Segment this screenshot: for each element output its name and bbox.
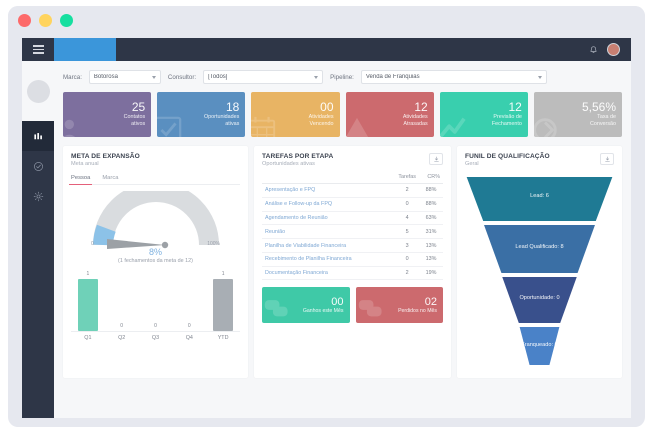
mini-card-value: 02 xyxy=(425,296,437,308)
funnel-stage-label-franqueado: Franqueado: 0 xyxy=(465,342,614,348)
panel-title: TAREFAS POR ETAPA xyxy=(262,153,443,160)
kpi-label-line2: Fechamento xyxy=(492,121,522,128)
kpi-value: 00 xyxy=(320,101,333,114)
mini-card-row: 00 Ganhos este Mês 02 Perdidos no Mês xyxy=(262,287,443,323)
funnel-stage-label-oportunidade: Oportunidade: 0 xyxy=(465,295,614,301)
bar xyxy=(78,279,98,331)
bar-value: 1 xyxy=(87,271,90,277)
kpi-label-line1: Oportunidades xyxy=(204,114,239,121)
sidebar-item-tasks[interactable] xyxy=(22,151,54,181)
funnel-stage-label-lead: Lead: 6 xyxy=(465,193,614,199)
mini-card-label: Ganhos este Mês xyxy=(303,308,344,314)
task-count: 0 xyxy=(395,197,419,211)
gauge-tick-min: 0 xyxy=(91,241,94,247)
table-row[interactable]: Reunião 5 31% xyxy=(262,225,443,239)
task-cr: 13% xyxy=(419,239,443,253)
filter-label-consultor: Consultor: xyxy=(168,74,196,81)
column-header-name xyxy=(262,172,395,184)
task-name: Análise e Follow-up da FPQ xyxy=(262,197,395,211)
filter-select-pipeline[interactable]: Venda de Franquias xyxy=(361,70,547,84)
kpi-value: 5,56% xyxy=(582,101,616,114)
task-cr: 31% xyxy=(419,225,443,239)
task-count: 5 xyxy=(395,225,419,239)
sidebar-item-settings[interactable] xyxy=(22,181,54,211)
task-count: 2 xyxy=(395,184,419,198)
bar-group: 1 0 0 xyxy=(71,270,240,332)
check-circle-icon xyxy=(33,161,44,172)
kpi-card-atividades-atrasadas[interactable]: 12 Atividades Atrasadas xyxy=(346,92,434,137)
topbar-actions xyxy=(589,43,631,56)
user-avatar[interactable] xyxy=(607,43,620,56)
bell-icon[interactable] xyxy=(589,45,598,55)
bar-label: Q2 xyxy=(105,335,139,341)
kpi-label-line2: ativos xyxy=(131,121,145,128)
conversion-icon xyxy=(534,115,560,137)
kpi-label-line2: Conversão xyxy=(590,121,616,128)
chat-bubbles-icon xyxy=(264,298,290,323)
table-row[interactable]: Agendamento de Reunião 4 63% xyxy=(262,211,443,225)
chevron-down-icon xyxy=(538,76,542,79)
bar-label: Q1 xyxy=(71,335,105,341)
dashboard-content: Marca: Botorosa Consultor: [Todos] Pipel… xyxy=(54,61,631,418)
task-count: 0 xyxy=(395,252,419,266)
task-name: Planilha de Viabilidade Financeira xyxy=(262,239,395,253)
task-count: 4 xyxy=(395,211,419,225)
chevron-down-icon xyxy=(314,76,318,79)
bar-column: 1 xyxy=(206,270,240,331)
task-cr: 13% xyxy=(419,252,443,266)
bar-label: Q4 xyxy=(172,335,206,341)
filter-value-marca: Botorosa xyxy=(94,74,118,80)
kpi-value: 18 xyxy=(226,101,239,114)
filter-bar: Marca: Botorosa Consultor: [Todos] Pipel… xyxy=(63,70,622,84)
funnel-shapes xyxy=(465,173,614,369)
bar-label: Q3 xyxy=(139,335,173,341)
kpi-card-oportunidades[interactable]: 18 Oportunidades ativas xyxy=(157,92,245,137)
download-button[interactable] xyxy=(600,153,614,165)
table-header-row: Tarefas CR% xyxy=(262,172,443,184)
chart-bars-icon xyxy=(33,131,44,142)
check-square-icon xyxy=(157,115,183,137)
trend-icon xyxy=(440,115,466,137)
download-icon xyxy=(433,156,440,163)
kpi-label-line1: Taxa de xyxy=(597,114,616,121)
mini-card-value: 00 xyxy=(331,296,343,308)
panel-tarefas-por-etapa: TAREFAS POR ETAPA Oportunidades ativas xyxy=(254,146,451,378)
avatar xyxy=(27,80,50,103)
task-cr: 63% xyxy=(419,211,443,225)
topbar xyxy=(54,38,631,61)
bar-column: 0 xyxy=(172,270,206,331)
mini-card-ganhos[interactable]: 00 Ganhos este Mês xyxy=(262,287,350,323)
kpi-card-taxa-conversao[interactable]: 5,56% Taxa de Conversão xyxy=(534,92,622,137)
kpi-label-line2: Atrasadas xyxy=(403,121,427,128)
table-row[interactable]: Recebimento de Planilha Financeira 0 13% xyxy=(262,252,443,266)
panel-header: TAREFAS POR ETAPA Oportunidades ativas xyxy=(262,153,443,167)
sidebar-nav xyxy=(22,121,54,211)
filter-select-marca[interactable]: Botorosa xyxy=(89,70,161,84)
window-titlebar xyxy=(8,6,645,34)
task-count: 2 xyxy=(395,266,419,280)
task-cr: 19% xyxy=(419,266,443,280)
bar xyxy=(213,279,233,331)
table-row[interactable]: Apresentação e FPQ 2 88% xyxy=(262,184,443,198)
kpi-label-line2: Vencendo xyxy=(310,121,334,128)
sidebar-menu-button[interactable] xyxy=(22,38,54,61)
contacts-icon xyxy=(63,115,89,137)
bar-column: 0 xyxy=(139,270,173,331)
window-minimize-button[interactable] xyxy=(39,14,52,27)
bar-value: 0 xyxy=(154,323,157,329)
bar-column: 1 xyxy=(71,270,105,331)
window-close-button[interactable] xyxy=(18,14,31,27)
main-column: Marca: Botorosa Consultor: [Todos] Pipel… xyxy=(54,38,631,418)
panel-row: META DE EXPANSÃO Meta anual Pessoa Marca xyxy=(63,146,622,378)
kpi-value: 12 xyxy=(509,101,522,114)
kpi-card-atividades-vencendo[interactable]: 00 Atividades Vencendo xyxy=(251,92,339,137)
kpi-label-line1: Atividades xyxy=(309,114,334,121)
bar-label: YTD xyxy=(206,335,240,341)
task-name: Reunião xyxy=(262,225,395,239)
chevron-down-icon xyxy=(152,76,156,79)
task-name: Recebimento de Planilha Financeira xyxy=(262,252,395,266)
gear-icon xyxy=(33,191,44,202)
sidebar xyxy=(22,38,54,418)
panel-subtitle: Meta anual xyxy=(71,161,240,167)
table-row[interactable]: Planilha de Viabilidade Financeira 3 13% xyxy=(262,239,443,253)
tab-pessoa[interactable]: Pessoa xyxy=(71,175,90,184)
filter-label-marca: Marca: xyxy=(63,74,82,81)
task-cr: 88% xyxy=(419,184,443,198)
panel-title: META DE EXPANSÃO xyxy=(71,153,240,160)
table-row[interactable]: Análise e Follow-up da FPQ 0 88% xyxy=(262,197,443,211)
panel-meta-expansao: META DE EXPANSÃO Meta anual Pessoa Marca xyxy=(63,146,248,378)
task-name: Apresentação e FPQ xyxy=(262,184,395,198)
tasks-table-body: Apresentação e FPQ 2 88% Análise e Follo… xyxy=(262,184,443,280)
bar-value: 0 xyxy=(120,323,123,329)
kpi-card-previsao-fechamento[interactable]: 12 Previsão de Fechamento xyxy=(440,92,528,137)
task-cr: 88% xyxy=(419,197,443,211)
quarterly-bar-chart: 1 0 0 xyxy=(71,270,240,346)
task-name: Agendamento de Reunião xyxy=(262,211,395,225)
tab-marca[interactable]: Marca xyxy=(102,175,118,184)
panel-funil-qualificacao: FUNIL DE QUALIFICAÇÃO Geral xyxy=(457,146,622,378)
gauge-chart: 0 100% xyxy=(71,191,240,249)
mini-card-label: Perdidos no Mês xyxy=(398,308,437,314)
topbar-brand-block xyxy=(54,38,116,61)
panel-header: META DE EXPANSÃO Meta anual xyxy=(71,153,240,167)
download-icon xyxy=(604,156,611,163)
kpi-value: 25 xyxy=(132,101,145,114)
chat-bubbles-icon xyxy=(358,298,384,323)
kpi-label-line1: Contatos xyxy=(124,114,146,121)
kpi-card-contatos[interactable]: 25 Contatos ativos xyxy=(63,92,151,137)
app-body: Marca: Botorosa Consultor: [Todos] Pipel… xyxy=(22,38,631,418)
panel-title: FUNIL DE QUALIFICAÇÃO xyxy=(465,153,614,160)
panel-subtitle: Oportunidades ativas xyxy=(262,161,443,167)
gauge-note: (1 fechamentos da meta de 12) xyxy=(71,258,240,264)
task-count: 3 xyxy=(395,239,419,253)
panel-header: FUNIL DE QUALIFICAÇÃO Geral xyxy=(465,153,614,167)
table-row[interactable]: Documentação Financeira 2 19% xyxy=(262,266,443,280)
panel-subtitle: Geral xyxy=(465,161,614,167)
calendar-icon xyxy=(251,115,277,137)
bar-axis-labels: Q1 Q2 Q3 Q4 YTD xyxy=(71,335,240,341)
filter-value-pipeline: Venda de Franquias xyxy=(366,74,420,80)
kpi-card-row: 25 Contatos ativos 18 Oportunidades ativ… xyxy=(63,92,622,137)
filter-label-pipeline: Pipeline: xyxy=(330,74,354,81)
kpi-label-line1: Atividades xyxy=(403,114,428,121)
kpi-value: 12 xyxy=(414,101,427,114)
column-header-tarefas: Tarefas xyxy=(395,172,419,184)
gauge-ticks: 0 100% xyxy=(91,241,220,247)
bar-column: 0 xyxy=(105,270,139,331)
download-button[interactable] xyxy=(429,153,443,165)
window-maximize-button[interactable] xyxy=(60,14,73,27)
meta-tabs: Pessoa Marca xyxy=(71,175,240,185)
sidebar-profile[interactable] xyxy=(22,61,54,121)
hamburger-icon xyxy=(33,45,44,54)
mini-card-perdidos[interactable]: 02 Perdidos no Mês xyxy=(356,287,444,323)
filter-value-consultor: [Todos] xyxy=(208,74,227,80)
kpi-label-line1: Previsão de xyxy=(493,114,521,121)
kpi-label-line2: ativas xyxy=(225,121,239,128)
task-name: Documentação Financeira xyxy=(262,266,395,280)
bar-value: 1 xyxy=(222,271,225,277)
filter-select-consultor[interactable]: [Todos] xyxy=(203,70,323,84)
column-header-cr: CR% xyxy=(419,172,443,184)
gauge-tick-max: 100% xyxy=(207,241,220,247)
warning-icon xyxy=(346,115,372,137)
tasks-table: Tarefas CR% Apresentação e FPQ 2 88% xyxy=(262,172,443,280)
app-window: Marca: Botorosa Consultor: [Todos] Pipel… xyxy=(8,6,645,427)
tasks-table-head: Tarefas CR% xyxy=(262,172,443,184)
bar-value: 0 xyxy=(188,323,191,329)
funnel-chart: Lead: 6 Lead Qualificado: 8 Oportunidade… xyxy=(465,173,614,369)
sidebar-item-dashboard[interactable] xyxy=(22,121,54,151)
funnel-stage-label-lead-qualificado: Lead Qualificado: 8 xyxy=(465,244,614,250)
